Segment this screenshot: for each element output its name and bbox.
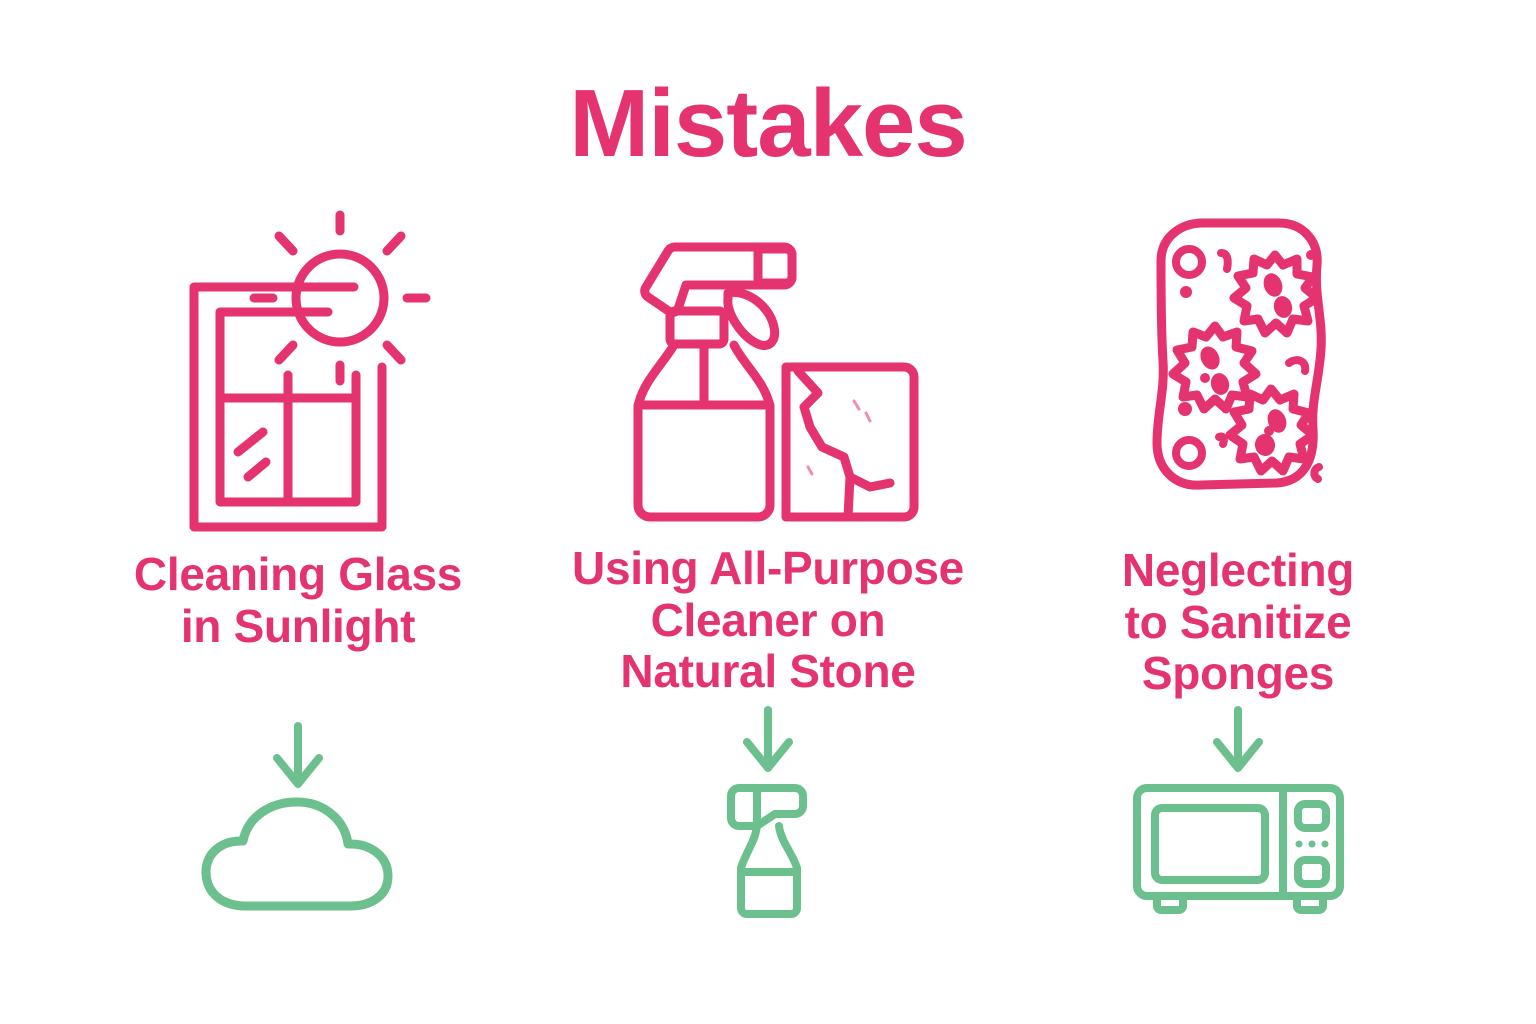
mistake-column-all-purpose-cleaner-on-stone: Using All-Purpose Cleaner on Natural Sto… [543, 215, 993, 920]
mistake-caption: Using All-Purpose Cleaner on Natural Sto… [572, 543, 964, 698]
mistake-caption: Neglecting to Sanitize Sponges [1122, 545, 1354, 700]
solution-icon-slot [198, 796, 398, 916]
microwave-icon [1131, 780, 1346, 915]
spray-bottle-and-cracked-stone-icon [618, 215, 918, 535]
solution-icon-slot [1131, 780, 1346, 915]
mistakes-columns: Cleaning Glass in Sunlight [0, 215, 1536, 1005]
infographic-root: Mistakes [0, 0, 1536, 1024]
down-arrow-icon [271, 724, 325, 790]
arrow-slot [271, 724, 325, 790]
arrow-slot [741, 708, 795, 774]
germ-icon [1230, 389, 1313, 471]
germ-icon [1234, 255, 1317, 333]
down-arrow-icon [741, 708, 795, 774]
window-with-sun-icon [168, 215, 428, 545]
mistake-column-neglecting-to-sanitize-sponges: Neglecting to Sanitize Sponges [1013, 215, 1463, 915]
spray-bottle-icon [723, 780, 813, 920]
cloud-icon [198, 796, 398, 916]
mistake-caption: Cleaning Glass in Sunlight [134, 549, 462, 652]
arrow-slot [1211, 708, 1265, 774]
down-arrow-icon [1211, 708, 1265, 774]
problem-icon-slot [168, 215, 428, 535]
germ-icon [1173, 326, 1256, 409]
problem-icon-slot [1123, 215, 1353, 535]
mistake-column-cleaning-glass-in-sunlight: Cleaning Glass in Sunlight [73, 215, 523, 916]
solution-icon-slot [723, 780, 813, 920]
page-title: Mistakes [0, 76, 1536, 172]
problem-icon-slot [618, 215, 918, 535]
sponge-with-germs-icon [1123, 215, 1353, 515]
